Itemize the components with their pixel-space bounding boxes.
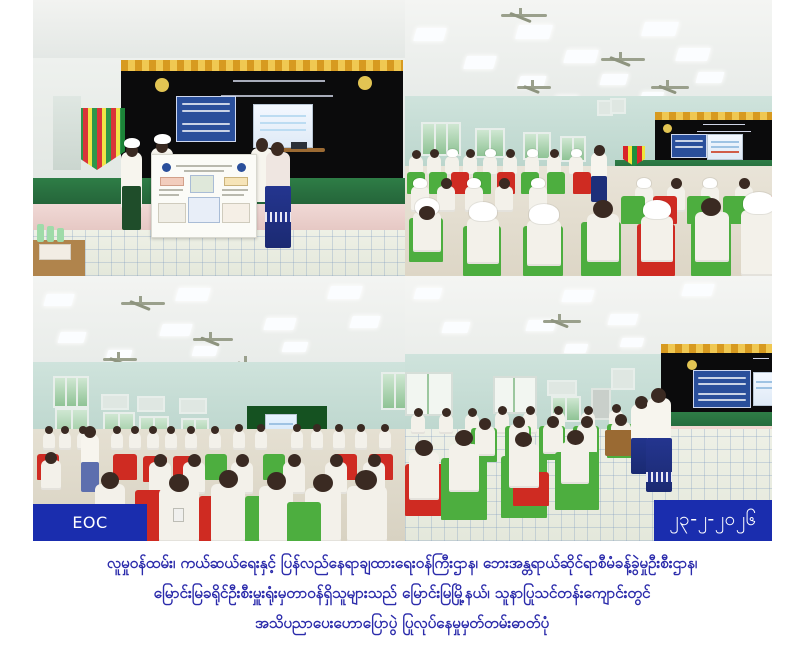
ceiling-fan-3 bbox=[651, 86, 689, 89]
stage-emblem bbox=[663, 124, 672, 133]
transom-2 bbox=[137, 396, 165, 412]
bottle-2 bbox=[47, 226, 54, 242]
date-badge: ၂၃-၂-၂၀၂၆ bbox=[654, 500, 772, 541]
projector-screen bbox=[707, 134, 743, 160]
scene-bottom-left bbox=[33, 276, 405, 541]
window-1 bbox=[53, 376, 89, 408]
nurse-2-cap bbox=[154, 134, 171, 144]
stage-title-line1 bbox=[233, 80, 325, 82]
photo-collage: EOC bbox=[33, 0, 772, 541]
scene-top-right bbox=[405, 0, 772, 276]
scene-top-left bbox=[33, 0, 405, 276]
ceiling-fan-2 bbox=[601, 58, 645, 61]
caption-line-2: မြောင်းမြခရိုင်ဦးစီးမှူးရုံးမှတာဝန်ရှိသူ… bbox=[0, 578, 804, 608]
presenter-longyi-pattern bbox=[646, 472, 672, 482]
ceiling-fan-2 bbox=[193, 338, 233, 341]
window-high-2 bbox=[610, 98, 626, 114]
nurse-3-head bbox=[256, 138, 268, 152]
stage-emblem-left bbox=[155, 78, 169, 92]
box-on-table bbox=[39, 244, 71, 260]
laptop bbox=[291, 142, 307, 149]
ceiling bbox=[33, 0, 405, 58]
bottle-3 bbox=[57, 228, 64, 242]
stage-pelmet bbox=[655, 112, 772, 120]
stage-banner bbox=[176, 96, 236, 142]
transom-1 bbox=[101, 394, 129, 410]
side-wall-panel bbox=[53, 96, 81, 170]
stage-title-line2 bbox=[221, 95, 333, 97]
eoc-badge: EOC bbox=[33, 504, 147, 541]
ceiling-fan-1 bbox=[501, 14, 547, 17]
date-badge-label: ၂၃-၂-၂၀၂၆ bbox=[669, 507, 757, 535]
ceiling-fan-1 bbox=[543, 320, 581, 323]
collage-page: EOC bbox=[0, 0, 804, 669]
ceiling-fan-1 bbox=[121, 302, 165, 305]
stage-emblem bbox=[687, 360, 697, 370]
caption-line-3: အသိပညာပေးဟောပြောပွဲ ပြုလုပ်နေမှုမှတ်တမ်း… bbox=[0, 608, 804, 638]
stage-emblem-right bbox=[358, 76, 372, 90]
photo-top-right bbox=[405, 0, 772, 276]
stage-banner bbox=[693, 370, 751, 408]
id-badge bbox=[173, 508, 184, 522]
ceiling-fan-4 bbox=[517, 86, 551, 89]
nurse-1-cap bbox=[124, 138, 140, 148]
health-education-poster bbox=[151, 154, 257, 238]
eoc-badge-label: EOC bbox=[72, 513, 107, 532]
presenter-longyi-pattern bbox=[265, 212, 291, 222]
transom-1 bbox=[547, 380, 577, 396]
transom-3 bbox=[179, 398, 207, 414]
window-right bbox=[381, 372, 405, 410]
projector-screen bbox=[753, 372, 772, 406]
photo-bottom-left: EOC bbox=[33, 276, 405, 541]
photo-top-left bbox=[33, 0, 405, 276]
stage-pelmet bbox=[121, 60, 403, 71]
window-high bbox=[611, 368, 635, 390]
nurse-1-longyi bbox=[122, 186, 141, 230]
photo-bottom-right: ၂၃-၂-၂၀၂၆ bbox=[405, 276, 772, 541]
caption-line-1: လူမှုဝန်ထမ်း၊ ကယ်ဆယ်ရေးနှင့် ပြန်လည်နေရာ… bbox=[0, 548, 804, 578]
ceiling-fan-3 bbox=[103, 358, 137, 361]
caption-block: လူမှုဝန်ထမ်း၊ ကယ်ဆယ်ရေးနှင့် ပြန်လည်နေရာ… bbox=[0, 548, 804, 638]
stage-banner bbox=[671, 134, 707, 158]
presenter-head bbox=[271, 142, 284, 156]
bottle-1 bbox=[37, 224, 44, 242]
stage-pelmet bbox=[661, 344, 772, 353]
